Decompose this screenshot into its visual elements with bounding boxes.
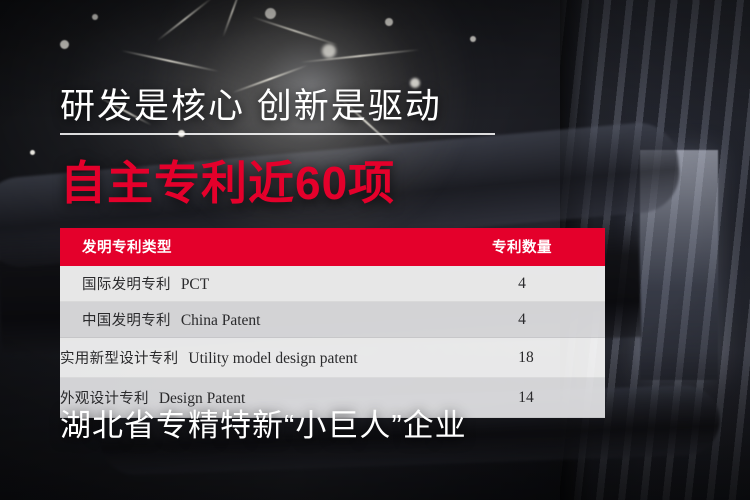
patent-type-en: China Patent [181, 312, 261, 329]
table-row: 实用新型设计专利Utility model design patent 18 [60, 338, 605, 378]
patent-type-en: PCT [181, 276, 209, 293]
cell-patent-count: 14 [447, 378, 605, 418]
column-header-type: 发明专利类型 [60, 228, 447, 266]
cell-patent-type: 国际发明专利PCT [60, 266, 447, 302]
cell-patent-count: 18 [447, 338, 605, 378]
cell-patent-type: 实用新型设计专利Utility model design patent [60, 338, 447, 378]
patent-type-cn: 中国发明专利 [82, 313, 171, 329]
patent-table-body: 国际发明专利PCT 4 中国发明专利China Patent 4 实用新型设计专… [60, 266, 605, 418]
headline-divider [60, 133, 495, 135]
headline-text: 研发是核心 创新是驱动 [60, 78, 442, 129]
table-row: 国际发明专利PCT 4 [60, 266, 605, 302]
poster-content: 研发是核心 创新是驱动 自主专利近60项 发明专利类型 专利数量 国际发明专利P… [0, 0, 750, 500]
table-row: 中国发明专利China Patent 4 [60, 302, 605, 338]
column-header-count: 专利数量 [447, 228, 605, 266]
poster-canvas: 研发是核心 创新是驱动 自主专利近60项 发明专利类型 专利数量 国际发明专利P… [0, 0, 750, 500]
cell-patent-count: 4 [447, 302, 605, 338]
patent-table-header: 发明专利类型 专利数量 [60, 228, 605, 266]
patent-type-en: Utility model design patent [188, 350, 357, 367]
subheadline-text: 自主专利近60项 [60, 147, 395, 213]
patent-type-cn: 国际发明专利 [82, 277, 171, 293]
patent-table: 发明专利类型 专利数量 国际发明专利PCT 4 中国发明专利China Pate… [60, 228, 605, 418]
patent-type-cn: 实用新型设计专利 [60, 351, 178, 367]
cell-patent-type: 中国发明专利China Patent [60, 302, 447, 338]
cell-patent-count: 4 [447, 266, 605, 302]
footer-text: 湖北省专精特新“小巨人”企业 [60, 400, 467, 445]
table-header-row: 发明专利类型 专利数量 [60, 228, 605, 266]
